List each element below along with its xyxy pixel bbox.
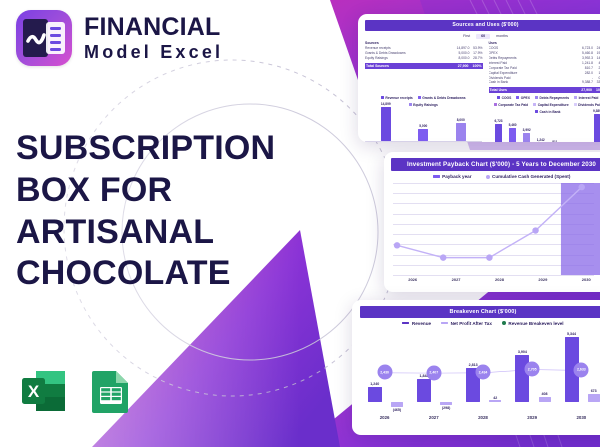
bar: 14,899 [381, 107, 391, 141]
breakeven-plot: 1,240(465)2,4301,848(298)2,4072,813422,4… [360, 330, 600, 414]
control-label-months: months [496, 34, 508, 39]
bar-value-label: 14,899 [381, 102, 391, 106]
breakeven-x-axis: 20262027202820292030 [360, 415, 600, 420]
payback-x-axis: 20262027202820292030 [391, 277, 600, 282]
legend-item: Corporate Tax Paid [494, 103, 528, 107]
bar-value-label: 408 [541, 392, 548, 396]
payback-series [391, 183, 600, 275]
breakeven-marker: 2,705 [525, 362, 540, 377]
legend-item: Dividends Paid [574, 103, 600, 107]
legend-payback-year: Payback year [433, 174, 472, 179]
legend-cumulative-cash: Cumulative Cash Generated (Spent) [486, 174, 571, 179]
bar-value-label: 42 [493, 396, 498, 400]
sources-total-value: 27,900 [449, 64, 469, 68]
card-sources-and-uses: Sources and Uses ($'000) First 60 months… [358, 14, 600, 142]
bar: 9,389 [594, 114, 600, 142]
payback-title: Investment Payback Chart ($'000) - 5 Yea… [391, 158, 600, 171]
table-row: Equity Raisings8,000.028.7% [365, 56, 483, 61]
bar: 5,460 [509, 128, 516, 142]
bar-net-profit [588, 394, 600, 402]
x-tick-label: 2030 [582, 277, 591, 282]
payback-legend: Payback year Cumulative Cash Generated (… [391, 174, 600, 179]
bar-net-profit [391, 402, 403, 408]
card-breakeven: Breakeven Chart ($'000) Revenue Net Prof… [352, 300, 600, 435]
payback-y-axis: 600400200-(200)(400)(600)(800)(1,000)(1,… [596, 183, 600, 275]
bar-value-label: (465) [392, 408, 401, 412]
uses-column: Uses COGS6,723.024.1%OPEX5,460.819.6%Deb… [489, 41, 600, 93]
google-sheets-icon [88, 365, 134, 417]
bar-value-label: 8,000 [457, 118, 465, 122]
x-tick-label: 2029 [527, 415, 537, 420]
brand-logo: FINANCIAL Model Excel [16, 10, 223, 66]
uses-header: Uses [489, 41, 600, 45]
bar-value-label: 673 [590, 389, 597, 393]
legend-revenue: Revenue [402, 321, 431, 326]
x-tick-label: 2027 [429, 415, 439, 420]
legend-item: Interest Paid [574, 96, 598, 100]
x-tick-label: 2026 [380, 415, 390, 420]
bar-value-label: 811 [552, 140, 557, 142]
sources-total-pct: 100% [469, 64, 482, 68]
breakeven-legend: Revenue Net Profit After Tax Revenue Bre… [360, 321, 600, 326]
bar-value-label: 5,344 [567, 332, 577, 336]
bar-net-profit [539, 397, 551, 402]
bar-value-label: 1,240 [370, 382, 380, 386]
bar: 5,000 [418, 129, 428, 140]
logo-mark-icon [16, 10, 72, 66]
sources-uses-title: Sources and Uses ($'000) [365, 20, 600, 31]
bar-value-label: 6,723 [495, 119, 503, 123]
svg-text:X: X [28, 382, 40, 401]
control-label-first: First [463, 34, 470, 39]
bar-value-label: 1,242 [537, 138, 545, 142]
file-format-icons: X [18, 365, 134, 417]
legend-item: Capital Expenditure [533, 103, 568, 107]
uses-total-pct: 100% [592, 88, 600, 92]
x-tick-label: 2029 [538, 277, 547, 282]
x-tick-label: 2030 [576, 415, 586, 420]
sources-header: Sources [365, 41, 483, 45]
breakeven-marker: 2,407 [426, 365, 441, 380]
brand-name-line2: Model Excel [84, 43, 223, 61]
legend-swatch-cumulative-cash [486, 175, 490, 179]
x-tick-label: 2028 [495, 277, 504, 282]
breakeven-marker: 2,633 [574, 362, 589, 377]
legend-swatch-net-profit [441, 322, 448, 325]
sources-uses-controls: First 60 months [365, 34, 600, 39]
legend-net-profit: Net Profit After Tax [441, 321, 492, 326]
legend-item: OPEX [516, 96, 530, 100]
x-tick-label: 2026 [408, 277, 417, 282]
sources-bar-chart: Revenue receiptsGrants & Debts Drawdowns… [365, 96, 482, 142]
x-tick-label: 2028 [478, 415, 488, 420]
control-months-value[interactable]: 60 [476, 34, 490, 39]
bar-revenue [417, 379, 431, 401]
poster-canvas: FINANCIAL Model Excel SUBSCRIPTION BOX F… [0, 0, 600, 447]
legend-item: Debts Repayments [535, 96, 569, 100]
sources-total-label: Total Sources [366, 64, 449, 68]
bar: 3,992 [523, 133, 530, 142]
headline-line-3: ARTISANAL [16, 212, 275, 254]
bar-revenue [368, 387, 382, 402]
headline-line-4: CHOCOLATE [16, 253, 275, 295]
brand-name-line1: FINANCIAL [84, 15, 223, 40]
headline-line-2: BOX FOR [16, 170, 275, 212]
sources-total-row: Total Sources 27,900 100% [365, 63, 483, 69]
uses-bar-chart: COGSOPEXDebts RepaymentsInterest PaidCor… [490, 96, 600, 142]
payback-plot: 600400200-(200)(400)(600)(800)(1,000)(1,… [391, 183, 600, 275]
bar: 8,000 [456, 123, 466, 141]
breakeven-marker: 2,430 [377, 365, 392, 380]
uses-total-row: Total Uses 27,900 100% [489, 87, 600, 93]
bar-value-label: 5,460 [509, 123, 517, 127]
bar-value-label: 5,000 [419, 124, 427, 128]
card-investment-payback: Investment Payback Chart ($'000) - 5 Yea… [384, 152, 600, 292]
table-row: Cash in Bank9,388.733.7% [489, 80, 600, 85]
legend-item: Grants & Debts Drawdowns [418, 96, 466, 100]
x-tick-label: 2027 [452, 277, 461, 282]
legend-item: Revenue receipts [381, 96, 413, 100]
bar-value-label: 3,904 [517, 350, 527, 354]
legend-item: COGS [497, 96, 511, 100]
legend-swatch-breakeven-level [502, 321, 506, 325]
bar-net-profit [440, 402, 452, 406]
microsoft-excel-icon: X [18, 365, 70, 417]
legend-swatch-revenue [402, 322, 409, 325]
uses-total-value: 27,900 [572, 88, 592, 92]
bar-value-label: 3,992 [523, 128, 531, 132]
legend-breakeven-level: Revenue Breakeven level [502, 321, 564, 326]
legend-swatch-payback-year [433, 175, 440, 178]
bar-value-label: (298) [441, 406, 450, 410]
uses-total-label: Total Uses [490, 88, 573, 92]
bar-value-label: 9,389 [593, 109, 600, 113]
bar: 6,723 [495, 124, 502, 142]
sources-column: Sources Revenue receipts14,897.053.9%Gra… [365, 41, 483, 93]
breakeven-marker: 2,434 [476, 365, 491, 380]
breakeven-title: Breakeven Chart ($'000) [360, 306, 600, 318]
headline-line-1: SUBSCRIPTION [16, 128, 275, 170]
page-title: SUBSCRIPTION BOX FOR ARTISANAL CHOCOLATE [16, 128, 275, 295]
